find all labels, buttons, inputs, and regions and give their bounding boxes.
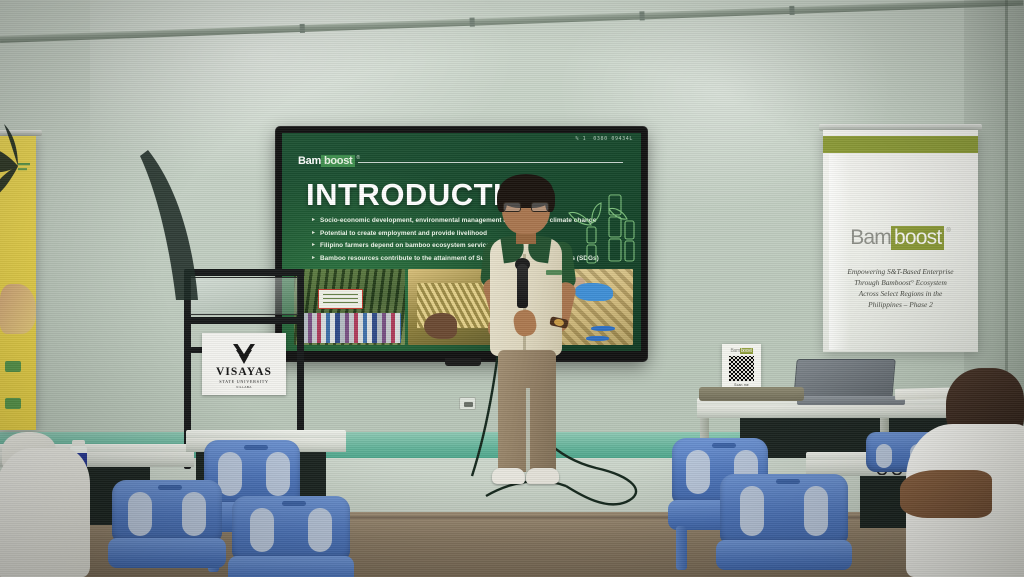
slide-header-rule (358, 162, 623, 163)
vsu-name: VISAYAS (216, 366, 272, 378)
banner-tagline-line: Across Select Regions in the (835, 288, 966, 299)
audience-left-person (0, 448, 90, 577)
chair[interactable] (716, 474, 852, 577)
qr-card-logo: Bamboost (730, 348, 752, 354)
vsu-subtitle: STATE UNIVERSITY (219, 379, 269, 384)
vsu-logo-icon (231, 343, 257, 365)
bullet-marker-icon: ▸ (312, 241, 315, 250)
left-banner-chip-1 (5, 361, 21, 372)
banner-logo-registered: ® (946, 228, 950, 234)
banner-leaf-decor-icon (0, 120, 30, 210)
tv-osd-right: 0380 09434L (593, 136, 633, 142)
classroom-presentation-scene: % 1 0380 09434L Bamboost® INTRODUCTION ▸… (0, 0, 1024, 577)
vsu-location: VILLABA (236, 385, 252, 389)
audience-right-arm (900, 470, 992, 518)
bullet-marker-icon: ▸ (312, 229, 315, 238)
banner-tagline: Empowering S&T-Based Enterprise Through … (835, 266, 966, 310)
presenter-left-shoe (492, 468, 525, 484)
banner-olive-band (823, 136, 978, 153)
slide-bullet-text: Potential to create employment and provi… (320, 229, 487, 238)
chair[interactable] (108, 480, 226, 577)
banner-tagline-line: Empowering S&T-Based Enterprise (835, 266, 966, 277)
banner-logo-boost: boost (891, 226, 944, 250)
banner-tagline-line: Philippines – Phase 2 (835, 299, 966, 310)
slide-logo-bam: Bam (298, 155, 321, 167)
desk-folder (699, 387, 804, 401)
qr-code-icon (729, 356, 754, 381)
bullet-marker-icon: ▸ (312, 254, 315, 263)
presenter-eyeglasses-icon (503, 202, 549, 212)
qr-logo-boost: boost (740, 348, 753, 354)
chair[interactable] (228, 496, 354, 577)
slide-logo-boost: boost (321, 155, 355, 167)
banner-bamboost-logo: Bamboost® (823, 226, 978, 250)
presenter (472, 178, 580, 512)
banner-side-shadow (140, 150, 200, 300)
bullet-marker-icon: ▸ (312, 216, 315, 225)
presenter-right-shoe (526, 468, 559, 484)
laptop-keyboard-base[interactable] (797, 396, 905, 405)
microphone-body (517, 264, 528, 308)
laptop-screen[interactable] (793, 359, 895, 399)
qr-logo-bam: Bam (730, 348, 739, 354)
slide-bamboost-logo: Bamboost® (298, 155, 360, 167)
banner-highlight (829, 154, 851, 350)
tv-osd-left: % 1 (575, 136, 586, 142)
left-banner-chip-2 (5, 398, 21, 409)
presenter-leg-gap (526, 388, 530, 474)
banner-logo-bam: Bam (850, 226, 891, 250)
left-banner-photo-arm (0, 284, 36, 334)
bamboost-rollup-banner: Bamboost® Empowering S&T-Based Enterpris… (823, 130, 978, 352)
vsu-signboard: VISAYAS STATE UNIVERSITY VILLABA (202, 333, 286, 395)
slide-logo-registered: ® (356, 155, 360, 161)
presenter-shirt-logo (546, 270, 562, 275)
av-cart-glass-shelf (190, 277, 298, 315)
tv-osd-overlay: % 1 0380 09434L (575, 136, 633, 142)
banner-tagline-line: Through Bamboost° Ecosystem (835, 277, 966, 288)
